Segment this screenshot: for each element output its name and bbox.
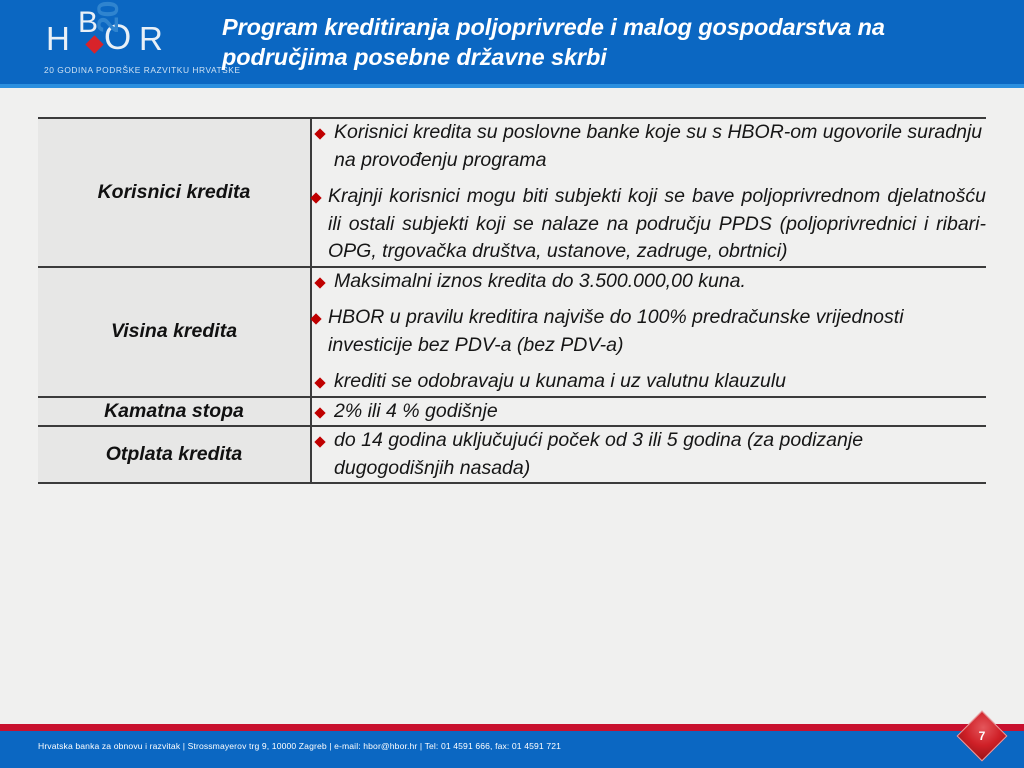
bullet-list: 2% ili 4 % godišnje bbox=[312, 398, 986, 426]
list-item: Krajnji korisnici mogu biti subjekti koj… bbox=[312, 183, 986, 266]
footer-red-strip bbox=[0, 724, 1024, 731]
logo-letter-r-icon: R bbox=[139, 22, 163, 55]
list-item: Maksimalni iznos kredita do 3.500.000,00… bbox=[312, 268, 986, 296]
page-title: Program kreditiranja poljoprivrede i mal… bbox=[222, 12, 992, 72]
row-content-kamatna-stopa: 2% ili 4 % godišnje bbox=[311, 397, 986, 427]
row-label-korisnici-kredita: Korisnici kredita bbox=[38, 118, 311, 267]
logo-anniversary-20-icon: 20 bbox=[94, 2, 124, 33]
row-content-otplata-kredita: do 14 godina uključujući poček od 3 ili … bbox=[311, 426, 986, 483]
list-item: Korisnici kredita su poslovne banke koje… bbox=[312, 119, 986, 174]
table-row: Otplata kredita do 14 godina uključujući… bbox=[38, 426, 986, 483]
row-label-visina-kredita: Visina kredita bbox=[38, 267, 311, 397]
row-label-otplata-kredita: Otplata kredita bbox=[38, 426, 311, 483]
program-details-table-wrap: Korisnici kredita Korisnici kredita su p… bbox=[38, 117, 986, 484]
logo-letter-h-icon: H bbox=[46, 22, 70, 55]
page-number: 7 bbox=[958, 712, 1006, 760]
program-details-table: Korisnici kredita Korisnici kredita su p… bbox=[38, 117, 986, 484]
table-row: Kamatna stopa 2% ili 4 % godišnje bbox=[38, 397, 986, 427]
hbor-logo-mark: H B O R 20 bbox=[38, 6, 218, 64]
page-number-badge: 7 bbox=[958, 712, 1006, 760]
slide-header: H B O R 20 20 GODINA PODRŠKE RAZVITKU HR… bbox=[0, 0, 1024, 88]
table-row: Visina kredita Maksimalni iznos kredita … bbox=[38, 267, 986, 397]
logo-tagline: 20 GODINA PODRŠKE RAZVITKU HRVATSKE bbox=[44, 65, 241, 75]
list-item: 2% ili 4 % godišnje bbox=[312, 398, 986, 426]
table-row: Korisnici kredita Korisnici kredita su p… bbox=[38, 118, 986, 267]
slide: H B O R 20 20 GODINA PODRŠKE RAZVITKU HR… bbox=[0, 0, 1024, 768]
hbor-logo: H B O R 20 20 GODINA PODRŠKE RAZVITKU HR… bbox=[38, 6, 218, 84]
bullet-list: do 14 godina uključujući poček od 3 ili … bbox=[312, 427, 986, 482]
footer-contact-text: Hrvatska banka za obnovu i razvitak | St… bbox=[38, 741, 561, 751]
row-label-kamatna-stopa: Kamatna stopa bbox=[38, 397, 311, 427]
bullet-list: Korisnici kredita su poslovne banke koje… bbox=[312, 119, 986, 266]
list-item: do 14 godina uključujući poček od 3 ili … bbox=[312, 427, 986, 482]
list-item: HBOR u pravilu kreditira najviše do 100%… bbox=[312, 304, 986, 359]
bullet-list: Maksimalni iznos kredita do 3.500.000,00… bbox=[312, 268, 986, 396]
row-content-visina-kredita: Maksimalni iznos kredita do 3.500.000,00… bbox=[311, 267, 986, 397]
row-content-korisnici-kredita: Korisnici kredita su poslovne banke koje… bbox=[311, 118, 986, 267]
list-item: krediti se odobravaju u kunama i uz valu… bbox=[312, 368, 986, 396]
